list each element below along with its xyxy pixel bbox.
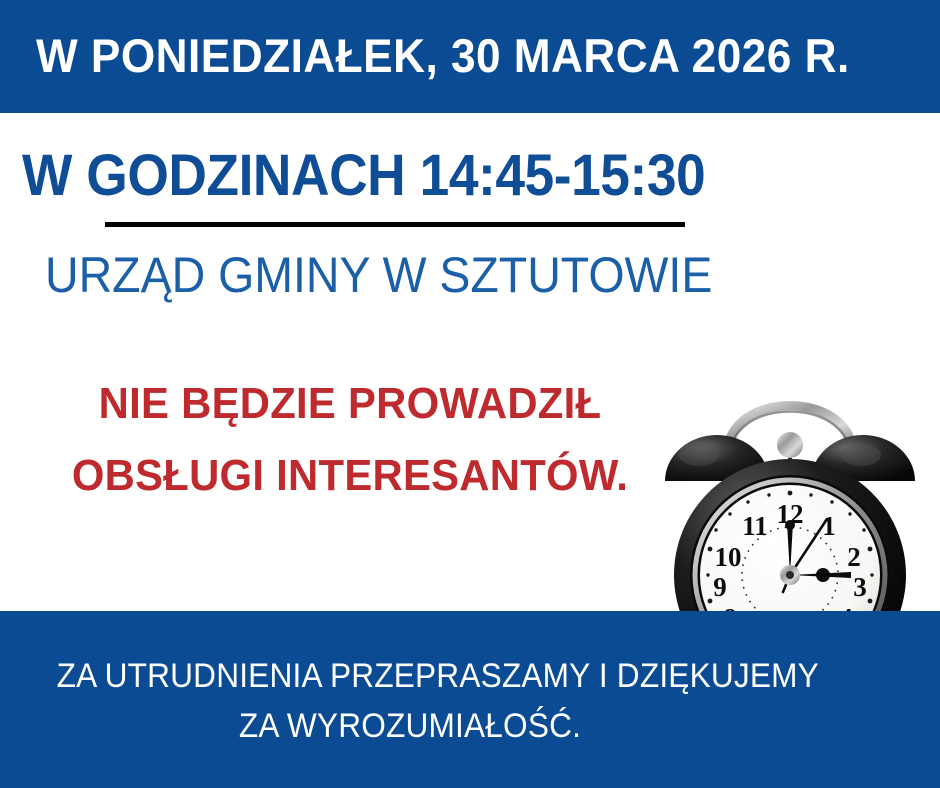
svg-text:2: 2 (847, 542, 861, 572)
clock-hour-hand-weight (816, 568, 830, 582)
clock-minute-hand-tip (785, 520, 795, 530)
office-name: URZĄD GMINY W SZTUTOWIE (45, 246, 712, 304)
notice-block: NIE BĘDZIE PROWADZIŁ OBSŁUGI INTERESANTÓ… (0, 368, 700, 512)
footer-line-2: ZA WYROZUMIAŁOŚĆ. (57, 701, 764, 751)
divider-rule (105, 222, 685, 227)
svg-text:3: 3 (853, 572, 867, 602)
footer-text-block: ZA UTRUDNIENIA PRZEPRASZAMY I DZIĘKUJEMY… (30, 651, 790, 751)
main-content-area: W GODZINACH 14:45-15:30 URZĄD GMINY W SZ… (0, 113, 940, 611)
svg-text:1: 1 (822, 511, 836, 541)
header-band: W PONIEDZIAŁEK, 30 MARCA 2026 R. (0, 0, 940, 113)
notice-line-2: OBSŁUGI INTERESANTÓW. (18, 440, 683, 512)
footer-line-1: ZA UTRUDNIENIA PRZEPRASZAMY I DZIĘKUJEMY (57, 651, 764, 701)
clock-bell-left-highlight (679, 444, 719, 466)
footer-band: ZA UTRUDNIENIA PRZEPRASZAMY I DZIĘKUJEMY… (0, 611, 940, 788)
poster-root: W PONIEDZIAŁEK, 30 MARCA 2026 R. W GODZI… (0, 0, 940, 788)
clock-bell-right-highlight (841, 444, 881, 466)
hours-label: W GODZINACH 14:45-15:30 (22, 143, 705, 209)
header-title: W PONIEDZIAŁEK, 30 MARCA 2026 R. (36, 28, 863, 84)
svg-text:10: 10 (715, 542, 742, 572)
svg-text:11: 11 (742, 511, 768, 541)
notice-line-1: NIE BĘDZIE PROWADZIŁ (18, 368, 683, 440)
svg-text:9: 9 (713, 572, 727, 602)
clock-hammer-knob (777, 432, 803, 458)
clock-center-pin (786, 571, 794, 579)
